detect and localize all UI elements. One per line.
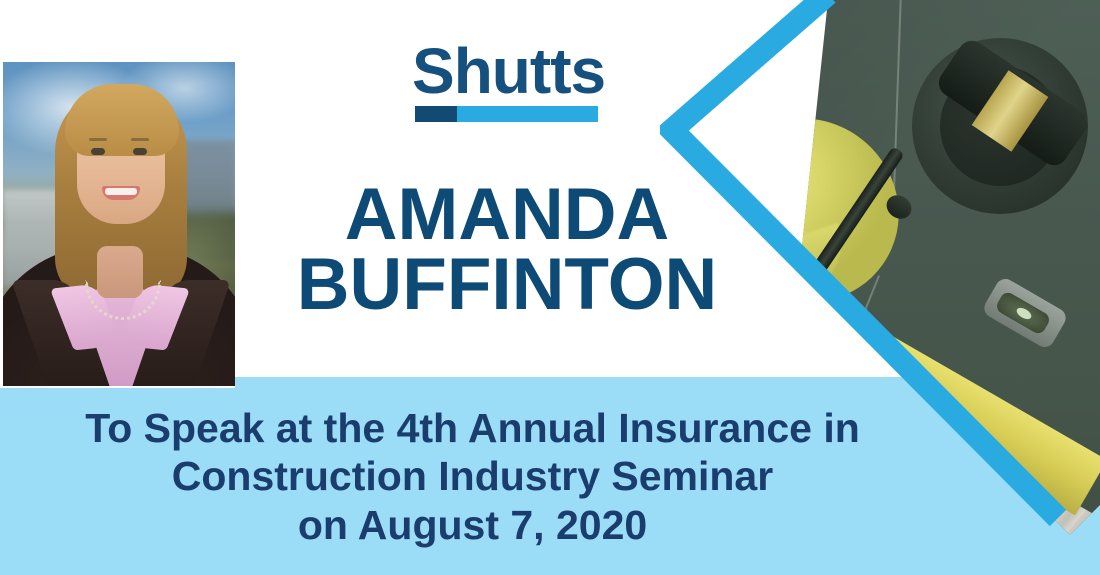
speaker-last-name: BUFFINTON bbox=[240, 250, 774, 320]
shutts-logo-bar-light bbox=[457, 106, 598, 122]
shutts-logo-bar-dark bbox=[415, 106, 457, 122]
portrait-teeth bbox=[105, 188, 137, 195]
portrait-eyebrow-left bbox=[89, 138, 107, 141]
speaker-first-name: AMANDA bbox=[240, 180, 774, 250]
event-description: To Speak at the 4th Annual Insurance in … bbox=[40, 404, 905, 549]
amanda-buffinton-headshot bbox=[3, 62, 235, 386]
shutts-logo: Shutts bbox=[412, 43, 598, 123]
portrait-eye-left bbox=[91, 148, 105, 155]
event-date: on August 7, 2020 bbox=[40, 501, 905, 549]
portrait-hair-top bbox=[65, 84, 179, 156]
event-description-line-2: Construction Industry Seminar bbox=[40, 452, 905, 500]
speaker-announcement-banner: Shutts AMANDA BUFFINTON To Speak at the … bbox=[0, 0, 1100, 575]
portrait-eye-right bbox=[133, 148, 147, 155]
portrait-eyebrow-right bbox=[131, 138, 149, 141]
event-description-line-1: To Speak at the 4th Annual Insurance in bbox=[40, 404, 905, 452]
speaker-name: AMANDA BUFFINTON bbox=[240, 180, 774, 320]
shutts-wordmark: Shutts bbox=[412, 39, 605, 103]
